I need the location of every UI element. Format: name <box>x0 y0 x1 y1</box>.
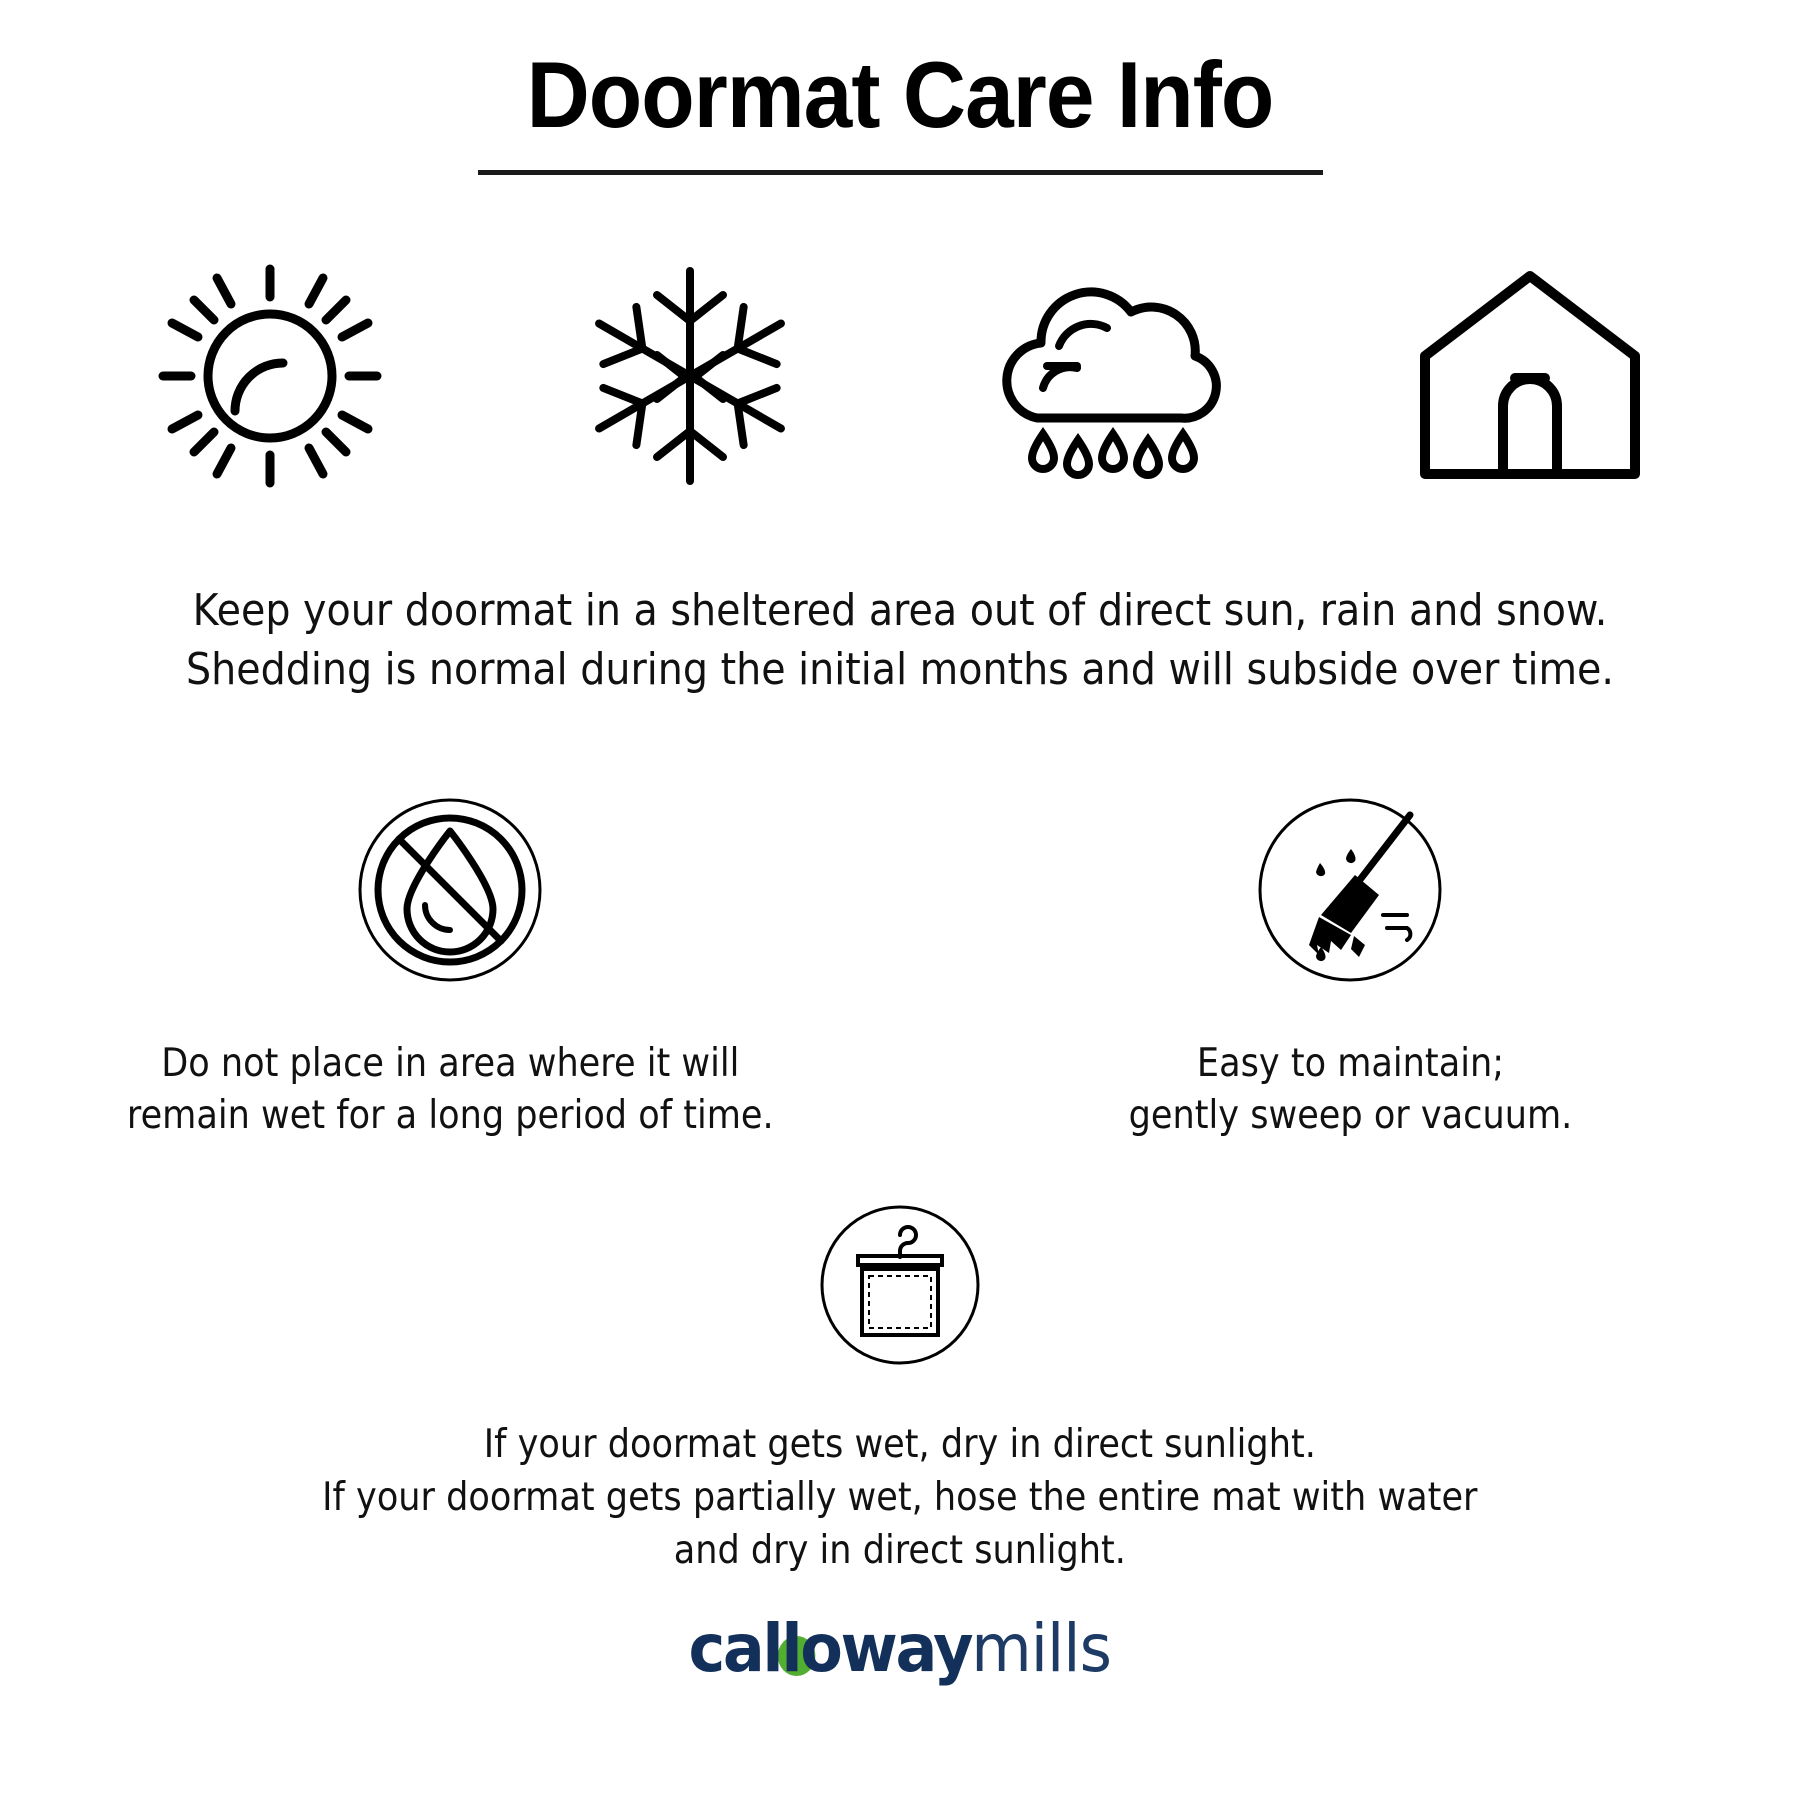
brand-logo-inner: callowaymills <box>689 1616 1112 1682</box>
house-icon <box>1415 266 1645 486</box>
intro-line-1: Keep your doormat in a sheltered area ou… <box>90 582 1710 641</box>
page-title: Doormat Care Info <box>63 48 1737 142</box>
brand-logo: callowaymills <box>0 1616 1800 1682</box>
snowflake-icon <box>575 261 805 491</box>
feature-sweep-caption-line-2: gently sweep or vacuum. <box>1128 1090 1572 1142</box>
dry-caption-line-1: If your doormat gets wet, dry in direct … <box>322 1418 1477 1471</box>
title-underline-rule <box>478 170 1323 175</box>
sun-icon <box>155 261 385 491</box>
dry-icon-wrap <box>810 1190 990 1380</box>
hanging-mat-icon <box>810 1195 990 1375</box>
broom-sweep-icon <box>1255 795 1445 985</box>
logo-text: callowaymills <box>689 1610 1112 1687</box>
feature-no-water-caption-line-2: remain wet for a long period of time. <box>127 1090 774 1142</box>
weather-cell-sun <box>140 252 400 500</box>
intro-paragraph: Keep your doormat in a sheltered area ou… <box>90 582 1710 699</box>
rain-cloud-icon <box>985 266 1235 486</box>
feature-no-water-caption-line-1: Do not place in area where it will <box>127 1038 774 1090</box>
weather-cell-house <box>1400 252 1660 500</box>
feature-sweep-caption-line-1: Easy to maintain; <box>1128 1038 1572 1090</box>
dry-caption-line-2: If your doormat gets partially wet, hose… <box>322 1471 1477 1524</box>
logo-word-mills: mills <box>971 1610 1111 1687</box>
feature-no-water: Do not place in area where it will remai… <box>0 790 900 1142</box>
intro-line-2: Shedding is normal during the initial mo… <box>90 641 1710 700</box>
dry-instructions-caption: If your doormat gets wet, dry in direct … <box>322 1418 1477 1577</box>
feature-sweep-caption: Easy to maintain; gently sweep or vacuum… <box>1128 1038 1572 1142</box>
weather-cell-snow <box>560 252 820 500</box>
feature-row: Do not place in area where it will remai… <box>0 790 1800 1142</box>
title-block: Doormat Care Info <box>0 48 1800 175</box>
feature-sweep-icon-wrap <box>1255 790 1445 990</box>
feature-no-water-icon-wrap <box>355 790 545 990</box>
doormat-care-info-page: Doormat Care Info <box>0 0 1800 1800</box>
dry-caption-line-3: and dry in direct sunlight. <box>322 1524 1477 1577</box>
weather-cell-rain <box>980 252 1240 500</box>
no-water-icon <box>355 795 545 985</box>
feature-no-water-caption: Do not place in area where it will remai… <box>127 1038 774 1142</box>
weather-icon-row <box>140 252 1660 500</box>
feature-sweep: Easy to maintain; gently sweep or vacuum… <box>900 790 1800 1142</box>
dry-instructions-block: If your doormat gets wet, dry in direct … <box>0 1190 1800 1577</box>
logo-word-calloway: calloway <box>689 1610 972 1687</box>
